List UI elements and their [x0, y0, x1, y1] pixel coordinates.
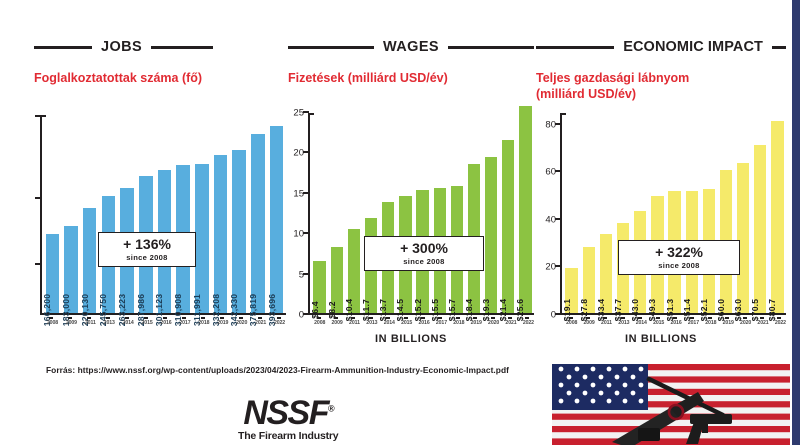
jobs-header-label: JOBS — [92, 40, 151, 55]
x-axis-year-label: 2022 — [772, 320, 789, 326]
y-axis-tick — [35, 263, 41, 265]
x-axis-tick — [673, 317, 677, 319]
bar-slot: 311,991 — [193, 115, 212, 313]
bar-slot: $18.4 — [465, 113, 482, 313]
bar: $6.4 — [313, 261, 325, 313]
impact-subtitle: Teljes gazdasági lábnyom (milliárd USD/é… — [536, 71, 786, 102]
x-axis-year-label: 2020 — [485, 320, 502, 326]
x-axis-tick — [125, 317, 129, 319]
x-axis-year-label: 2019 — [213, 320, 232, 326]
bar-slot: $15.7 — [448, 113, 465, 313]
x-axis-year-label: 2009 — [580, 320, 597, 326]
bar-slot: 166,200 — [43, 115, 62, 313]
bar: $63.0 — [737, 163, 749, 313]
x-axis-tick — [569, 317, 573, 319]
source-citation: Forrás: https://www.nssf.org/wp-content/… — [46, 365, 509, 375]
right-edge-accent — [792, 0, 800, 445]
x-axis-year-label: 2016 — [667, 320, 684, 326]
x-axis-year-label: 2011 — [81, 320, 100, 326]
x-axis-tick — [404, 317, 408, 319]
bar: $19.3 — [485, 157, 497, 313]
x-axis-tick — [334, 317, 338, 319]
bar-slot: 332,208 — [211, 115, 230, 313]
x-axis-tick — [144, 317, 148, 319]
x-axis-tick — [603, 317, 607, 319]
x-axis-tick — [508, 317, 512, 319]
growth-baseline-note: since 2008 — [365, 257, 483, 266]
wages-header: WAGES — [288, 36, 534, 58]
bar: $21.4 — [502, 140, 514, 313]
x-axis-year-label: 2009 — [62, 320, 81, 326]
x-axis-tick — [87, 317, 91, 319]
bar-slot: $19.1 — [563, 113, 580, 313]
x-axis-year-label: 2015 — [650, 320, 667, 326]
bar-slot: $49.3 — [649, 113, 666, 313]
impact-header: ECONOMIC IMPACT — [536, 36, 786, 58]
bar-slot: $51.4 — [683, 113, 700, 313]
jobs-chart: 166,200183,000220,130245,750263,223287,9… — [34, 115, 286, 326]
x-axis-year-label: 2013 — [615, 320, 632, 326]
x-axis-year-label: 2020 — [737, 320, 754, 326]
bar-slot: 301,123 — [155, 115, 174, 313]
wages-header-label: WAGES — [374, 40, 448, 55]
x-axis-year-label: 2018 — [450, 320, 467, 326]
x-axis-tick — [777, 317, 781, 319]
flag-firearms-photo — [552, 364, 790, 445]
bar-slot: 220,130 — [80, 115, 99, 313]
header-rule-left — [34, 46, 92, 49]
bar: $80.7 — [771, 121, 783, 313]
x-axis-year-label: 2011 — [346, 320, 363, 326]
x-axis-year-label: 2019 — [720, 320, 737, 326]
y-axis-tick-label: 5 — [299, 269, 304, 280]
bar-slot: 263,223 — [118, 115, 137, 313]
growth-baseline-note: since 2008 — [619, 261, 739, 270]
x-axis-tick — [525, 317, 529, 319]
panel-economic-impact: ECONOMIC IMPACT Teljes gazdasági lábnyom… — [536, 0, 786, 360]
y-axis-tick-label: 25 — [293, 108, 304, 119]
x-axis-tick — [456, 317, 460, 319]
x-axis-tick — [438, 317, 442, 319]
nssf-wordmark-text: NSSF — [243, 394, 328, 432]
bar-slot: $51.3 — [666, 113, 683, 313]
bar-slot: $6.4 — [311, 113, 328, 313]
bar: $25.6 — [519, 106, 531, 313]
x-axis-tick — [760, 317, 764, 319]
x-axis-tick — [386, 317, 390, 319]
y-axis-tick-label: 20 — [293, 148, 304, 159]
growth-callout: + 322%since 2008 — [618, 240, 740, 275]
x-axis-year-label: 2018 — [194, 320, 213, 326]
y-axis-tick-label: 60 — [545, 167, 556, 178]
x-axis-year-label: 2022 — [520, 320, 537, 326]
bar-slot: 183,000 — [62, 115, 81, 313]
bar-slot: $80.7 — [769, 113, 786, 313]
bar-slot: 342,330 — [230, 115, 249, 313]
x-axis-year-label: 2020 — [232, 320, 251, 326]
x-axis-year-label: 2008 — [563, 320, 580, 326]
bar-slot: $27.8 — [580, 113, 597, 313]
x-axis-tick — [49, 317, 53, 319]
bar-slot: $13.7 — [380, 113, 397, 313]
wages-plot-area: 0510152025$6.4$8.2$10.4$11.7$13.7$14.5$1… — [308, 113, 534, 315]
x-axis-year-label: 2015 — [138, 320, 157, 326]
growth-callout: + 136%since 2008 — [98, 232, 196, 267]
x-axis-tick — [68, 317, 72, 319]
header-rule-left — [288, 46, 374, 49]
growth-baseline-note: since 2008 — [99, 253, 195, 262]
panel-wages: WAGES Fizetések (milliárd USD/év) 051015… — [288, 0, 534, 360]
bar-slot: $15.2 — [414, 113, 431, 313]
bar-slot: $25.6 — [517, 113, 534, 313]
bar: $10.4 — [348, 229, 360, 313]
bar-value-label: $80.7 — [767, 299, 777, 322]
bar-slot: $11.7 — [362, 113, 379, 313]
x-axis-year-label: 2009 — [328, 320, 345, 326]
bar-slot: $21.4 — [500, 113, 517, 313]
flag-firearms-illustration — [552, 364, 790, 445]
x-axis-year-label: 2021 — [502, 320, 519, 326]
bar: 183,000 — [64, 226, 77, 313]
bar-value-label: $21.4 — [498, 299, 508, 322]
bar-slot: 393,696 — [267, 115, 286, 313]
growth-percent: + 322% — [619, 245, 739, 260]
nssf-tagline: The Firearm Industry — [238, 430, 338, 442]
y-axis-tick-label: 20 — [545, 262, 556, 273]
bar-series: $6.4$8.2$10.4$11.7$13.7$14.5$15.2$15.5$1… — [311, 113, 534, 313]
header-rule-right — [151, 46, 213, 49]
x-axis-year-labels: 2008200920112013201420152016201720182019… — [43, 320, 289, 326]
x-axis-year-label: 2013 — [100, 320, 119, 326]
bar-series: $19.1$27.8$33.4$37.7$43.0$49.3$51.3$51.4… — [563, 113, 786, 313]
bar-slot: $52.1 — [700, 113, 717, 313]
x-axis-tick — [351, 317, 355, 319]
bar: 332,208 — [214, 155, 227, 313]
bar-slot: 287,986 — [136, 115, 155, 313]
x-axis-tick — [491, 317, 495, 319]
x-axis-year-label: 2019 — [468, 320, 485, 326]
x-axis-year-label: 2017 — [433, 320, 450, 326]
x-axis-year-labels: 2008200920112013201420152016201720182019… — [563, 320, 789, 326]
bar: 342,330 — [232, 150, 245, 313]
x-axis-year-label: 2015 — [398, 320, 415, 326]
x-axis-year-label: 2018 — [702, 320, 719, 326]
x-axis-year-label: 2008 — [43, 320, 62, 326]
bar-slot: $43.0 — [632, 113, 649, 313]
x-axis-label: IN BILLIONS — [288, 333, 534, 345]
x-axis-tick — [369, 317, 373, 319]
bar-slot: 245,750 — [99, 115, 118, 313]
bar: 375,819 — [251, 134, 264, 313]
header-rule-right — [772, 46, 786, 49]
x-axis-year-label: 2013 — [363, 320, 380, 326]
x-axis-year-label: 2014 — [119, 320, 138, 326]
bar: $27.8 — [583, 247, 595, 313]
x-axis-tick — [586, 317, 590, 319]
x-axis-year-label: 2021 — [251, 320, 270, 326]
x-axis-tick — [239, 317, 243, 319]
header-rule-left — [536, 46, 614, 49]
nssf-logo: NSSF® The Firearm Industry — [238, 398, 338, 442]
x-axis-tick — [106, 317, 110, 319]
x-axis-tick — [201, 317, 205, 319]
panel-jobs: JOBS Foglalkoztatottak száma (fő) 166,20… — [34, 0, 286, 360]
x-axis-tick — [708, 317, 712, 319]
y-axis-tick-label: 40 — [545, 214, 556, 225]
x-axis-label: IN BILLIONS — [536, 333, 786, 345]
bar-slot: $63.0 — [735, 113, 752, 313]
trademark-symbol: ® — [328, 404, 333, 414]
bar: 393,696 — [270, 126, 283, 313]
bar-slot: 375,819 — [249, 115, 268, 313]
bar: $19.1 — [565, 268, 577, 313]
impact-plot-area: 020406080$19.1$27.8$33.4$37.7$43.0$49.3$… — [560, 113, 786, 315]
x-axis-year-label: 2021 — [754, 320, 771, 326]
y-axis-tick-label: 15 — [293, 188, 304, 199]
bar-series: 166,200183,000220,130245,750263,223287,9… — [43, 115, 286, 313]
bar-slot: $10.4 — [345, 113, 362, 313]
x-axis-year-label: 2016 — [157, 320, 176, 326]
nssf-wordmark: NSSF® — [238, 398, 338, 429]
y-axis-tick-label: 10 — [293, 229, 304, 240]
x-axis-tick — [656, 317, 660, 319]
header-rule-right — [448, 46, 534, 49]
bar-slot: $60.0 — [717, 113, 734, 313]
x-axis-tick — [743, 317, 747, 319]
x-axis-tick — [421, 317, 425, 319]
growth-percent: + 300% — [365, 241, 483, 256]
y-axis-tick — [35, 115, 41, 117]
bar-slot: $70.5 — [752, 113, 769, 313]
x-axis-tick — [725, 317, 729, 319]
x-axis-year-labels: 2008200920112013201420152016201720182019… — [311, 320, 537, 326]
x-axis-tick — [317, 317, 321, 319]
impact-header-label: ECONOMIC IMPACT — [614, 40, 772, 55]
x-axis-year-label: 2008 — [311, 320, 328, 326]
x-axis-tick — [690, 317, 694, 319]
y-axis-tick-label: 0 — [551, 310, 556, 321]
bar: $8.2 — [331, 247, 343, 313]
bar-slot: 310,908 — [174, 115, 193, 313]
bar: $33.4 — [600, 234, 612, 313]
bar-slot: $33.4 — [597, 113, 614, 313]
x-axis-tick — [621, 317, 625, 319]
bar: $70.5 — [754, 145, 766, 313]
y-axis-line — [40, 115, 42, 315]
x-axis-tick — [258, 317, 262, 319]
bar: 166,200 — [46, 234, 59, 313]
impact-chart: 020406080$19.1$27.8$33.4$37.7$43.0$49.3$… — [536, 113, 786, 345]
x-axis-year-label: 2022 — [270, 320, 289, 326]
wages-subtitle: Fizetések (milliárd USD/év) — [288, 71, 534, 87]
jobs-header: JOBS — [34, 36, 286, 58]
bar: 220,130 — [83, 208, 96, 313]
bar-value-label: $70.5 — [750, 299, 760, 322]
x-axis-year-label: 2017 — [175, 320, 194, 326]
growth-percent: + 136% — [99, 237, 195, 252]
x-axis-tick — [473, 317, 477, 319]
y-axis-line — [560, 113, 562, 315]
bar-slot: $15.5 — [431, 113, 448, 313]
bar-slot: $14.5 — [397, 113, 414, 313]
bar-slot: $8.2 — [328, 113, 345, 313]
bar-slot: $37.7 — [614, 113, 631, 313]
bar: 311,991 — [195, 164, 208, 313]
x-axis-tick — [220, 317, 224, 319]
x-axis-year-label: 2017 — [685, 320, 702, 326]
x-axis-year-label: 2016 — [415, 320, 432, 326]
growth-callout: + 300%since 2008 — [364, 236, 484, 271]
x-axis-tick — [182, 317, 186, 319]
y-axis-tick-label: 0 — [299, 310, 304, 321]
y-axis-tick-label: 80 — [545, 119, 556, 130]
x-axis-year-label: 2014 — [633, 320, 650, 326]
y-axis-line — [308, 113, 310, 315]
jobs-subtitle: Foglalkoztatottak száma (fő) — [34, 71, 286, 87]
x-axis-tick — [277, 317, 281, 319]
x-axis-tick — [638, 317, 642, 319]
y-axis-tick — [35, 197, 41, 199]
x-axis-year-label: 2014 — [381, 320, 398, 326]
wages-chart: 0510152025$6.4$8.2$10.4$11.7$13.7$14.5$1… — [288, 113, 534, 345]
bar-slot: $19.3 — [483, 113, 500, 313]
bar-value-label: $25.6 — [515, 299, 525, 322]
jobs-plot-area: 166,200183,000220,130245,750263,223287,9… — [40, 115, 286, 315]
x-axis-year-label: 2011 — [598, 320, 615, 326]
x-axis-tick — [163, 317, 167, 319]
